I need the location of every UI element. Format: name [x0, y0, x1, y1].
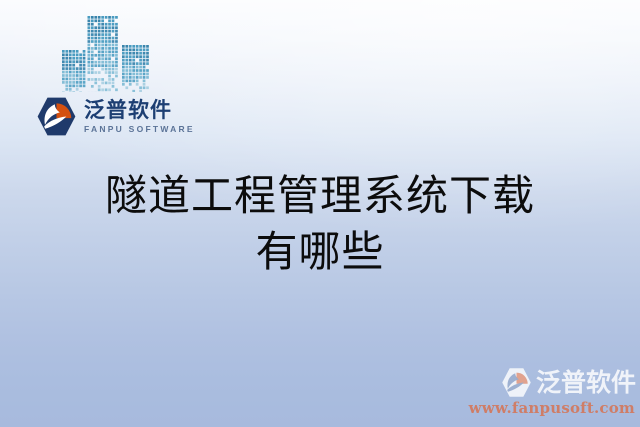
watermark-name-cn: 泛普软件 — [536, 370, 636, 395]
fanpu-hexagon-logo-mark — [501, 367, 532, 398]
watermark-logo-row: 泛普软件 — [501, 367, 636, 398]
brand-name-en: FANPU SOFTWARE — [84, 125, 195, 134]
page-title-line-2: 有哪些 — [0, 224, 640, 280]
brand-logo: 泛普软件 FANPU SOFTWARE — [36, 96, 195, 137]
page-title-line-1: 隧道工程管理系统下载 — [0, 168, 640, 224]
watermark-url: www.fanpusoft.com — [469, 399, 635, 417]
fanpu-hexagon-logo-mark — [36, 96, 77, 137]
brand-wordmark: 泛普软件 FANPU SOFTWARE — [84, 100, 195, 134]
page-title: 隧道工程管理系统下载 有哪些 — [0, 168, 640, 280]
promo-banner: 泛普软件 FANPU SOFTWARE 隧道工程管理系统下载 有哪些 泛普软件 … — [0, 0, 640, 427]
watermark: 泛普软件 www.fanpusoft.com — [494, 367, 636, 417]
mosaic-skyline-graphic — [62, 14, 154, 92]
brand-name-cn: 泛普软件 — [84, 100, 195, 121]
